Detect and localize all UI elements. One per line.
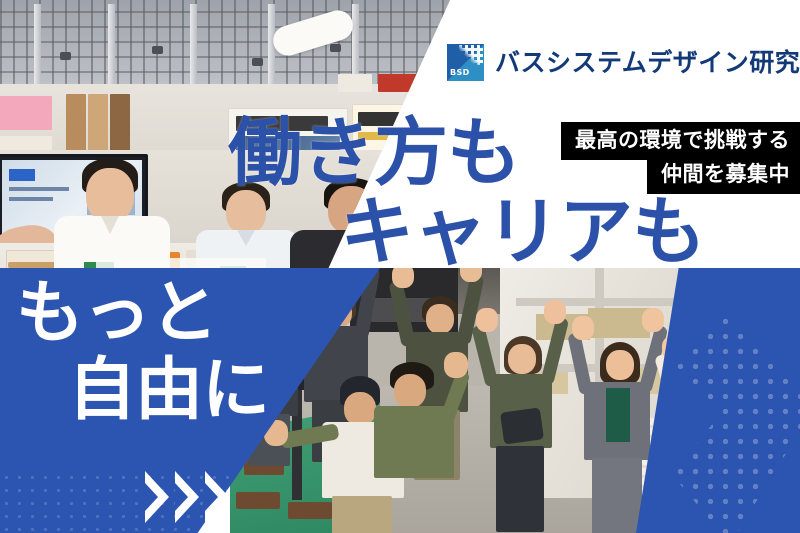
member-head bbox=[426, 304, 454, 334]
headline-line-2: キャリアも bbox=[340, 196, 705, 269]
monitor-ui-line bbox=[9, 197, 53, 201]
ceiling-truss bbox=[108, 4, 115, 84]
company-name: バスシステムデザイン研究所 bbox=[495, 50, 800, 75]
member-bag bbox=[500, 407, 544, 444]
logo-pixel-grid bbox=[459, 45, 483, 65]
member-hand bbox=[544, 300, 566, 324]
member-arm-raised bbox=[567, 332, 593, 395]
member-inner-top bbox=[606, 388, 630, 442]
chevron-dot-pattern bbox=[658, 314, 800, 533]
ceiling-truss bbox=[352, 4, 359, 84]
monitor-ui-block bbox=[9, 169, 35, 181]
chevron-right-icon bbox=[205, 471, 229, 523]
subheadline-line-1: もっと bbox=[16, 280, 269, 348]
member-legs bbox=[592, 458, 642, 533]
bsd-square-logo-icon: BSD bbox=[447, 44, 484, 81]
logo-badge-text: BSD bbox=[450, 68, 470, 77]
member-hand bbox=[444, 352, 468, 378]
ceiling-lamp bbox=[330, 44, 341, 52]
ceiling-lamp bbox=[152, 46, 163, 54]
chevron-right-icon bbox=[175, 471, 199, 523]
recruitment-banner: BSD バスシステムデザイン研究所 最高の環境で挑戦する 仲間を募集中 働き方も… bbox=[0, 0, 800, 533]
team-member bbox=[374, 362, 494, 512]
chevron-arrows bbox=[145, 471, 229, 523]
sub-headline: もっと 自由に bbox=[16, 280, 269, 425]
member-head bbox=[508, 344, 536, 374]
storage-box bbox=[588, 308, 650, 338]
member-head bbox=[394, 374, 426, 408]
ceiling-lamp bbox=[252, 58, 263, 66]
staff-head bbox=[86, 168, 134, 222]
member-hand bbox=[476, 308, 498, 332]
ceiling-truss bbox=[34, 4, 41, 84]
wood-plank-sample bbox=[236, 492, 280, 509]
subheadline-line-2: 自由に bbox=[68, 357, 269, 425]
member-hand bbox=[572, 316, 594, 340]
chevron-right-icon bbox=[145, 471, 169, 523]
booth-poster bbox=[0, 96, 52, 130]
staff-collar bbox=[101, 216, 119, 234]
member-legs bbox=[496, 446, 544, 532]
member-hand bbox=[642, 308, 664, 332]
member-head bbox=[606, 350, 634, 380]
main-headline: 働き方も キャリアも bbox=[228, 117, 705, 268]
booth-header-strip bbox=[378, 74, 450, 92]
ceiling-truss bbox=[190, 4, 197, 84]
company-logo[interactable]: BSD バスシステムデザイン研究所 bbox=[447, 44, 800, 81]
headline-line-1: 働き方も bbox=[228, 117, 705, 190]
booth-header-strip bbox=[338, 74, 372, 92]
ceiling-lamp bbox=[60, 52, 71, 60]
member-head bbox=[344, 392, 376, 426]
